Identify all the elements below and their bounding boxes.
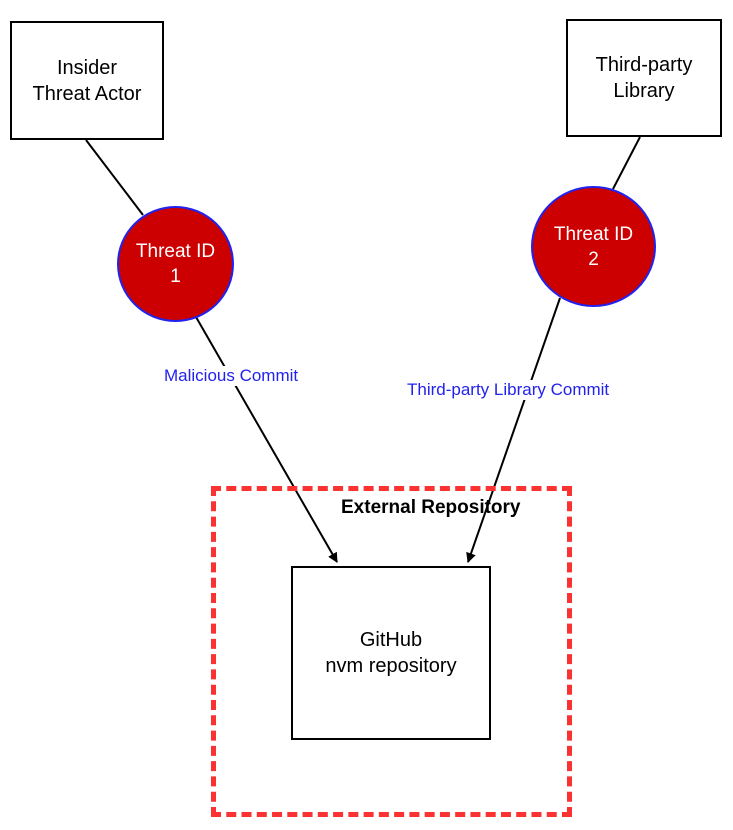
node-insider-threat-actor[interactable]: Insider Threat Actor xyxy=(10,21,164,140)
edge-label-malicious-commit: Malicious Commit xyxy=(163,366,299,386)
edge-insider-to-threat1 xyxy=(86,140,143,215)
diagram-canvas: External Repository Insider Threat Actor… xyxy=(0,0,733,830)
node-github-nvm-repository[interactable]: GitHub nvm repository xyxy=(291,566,491,740)
edge-library-to-threat2 xyxy=(613,137,640,189)
node-third-party-library[interactable]: Third-party Library xyxy=(566,19,722,137)
external-repository-group-title: External Repository xyxy=(341,497,521,519)
node-threat-id-2[interactable]: Threat ID 2 xyxy=(531,186,656,307)
edge-label-third-party-library-commit: Third-party Library Commit xyxy=(406,380,610,400)
node-threat-id-1[interactable]: Threat ID 1 xyxy=(117,206,234,322)
